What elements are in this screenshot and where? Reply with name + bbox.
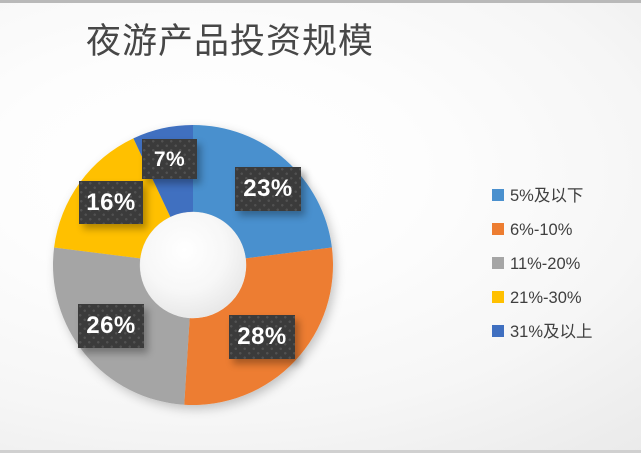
legend-item-4[interactable]: 31%及以上	[492, 315, 624, 349]
legend-swatch-icon-4	[492, 325, 504, 337]
legend-label-3: 21%-30%	[510, 290, 582, 307]
legend-label-0: 5%及以下	[510, 188, 583, 205]
data-label-slice-4: 7%	[142, 139, 197, 179]
data-label-slice-2: 26%	[78, 304, 144, 348]
data-label-slice-3: 16%	[79, 181, 143, 224]
legend-item-3[interactable]: 21%-30%	[492, 281, 624, 315]
legend-swatch-icon-3	[492, 291, 504, 303]
donut-center-hole	[140, 212, 246, 318]
chart-container: 夜游产品投资规模 23% 28% 26% 16% 7%	[0, 0, 641, 453]
legend-item-0[interactable]: 5%及以下	[492, 179, 624, 213]
legend-label-2: 11%-20%	[510, 256, 580, 273]
legend-item-1[interactable]: 6%-10%	[492, 213, 624, 247]
chart-legend: 5%及以下 6%-10% 11%-20% 21%-30% 31%及以上	[492, 179, 624, 349]
plot-area: 23% 28% 26% 16% 7%	[0, 3, 460, 453]
legend-label-4: 31%及以上	[510, 324, 593, 341]
legend-swatch-icon-1	[492, 223, 504, 235]
donut-chart	[0, 3, 460, 453]
legend-swatch-icon-2	[492, 257, 504, 269]
legend-label-1: 6%-10%	[510, 222, 572, 239]
data-label-slice-0: 23%	[235, 167, 301, 211]
legend-item-2[interactable]: 11%-20%	[492, 247, 624, 281]
data-label-slice-1: 28%	[229, 315, 295, 359]
legend-swatch-icon-0	[492, 189, 504, 201]
